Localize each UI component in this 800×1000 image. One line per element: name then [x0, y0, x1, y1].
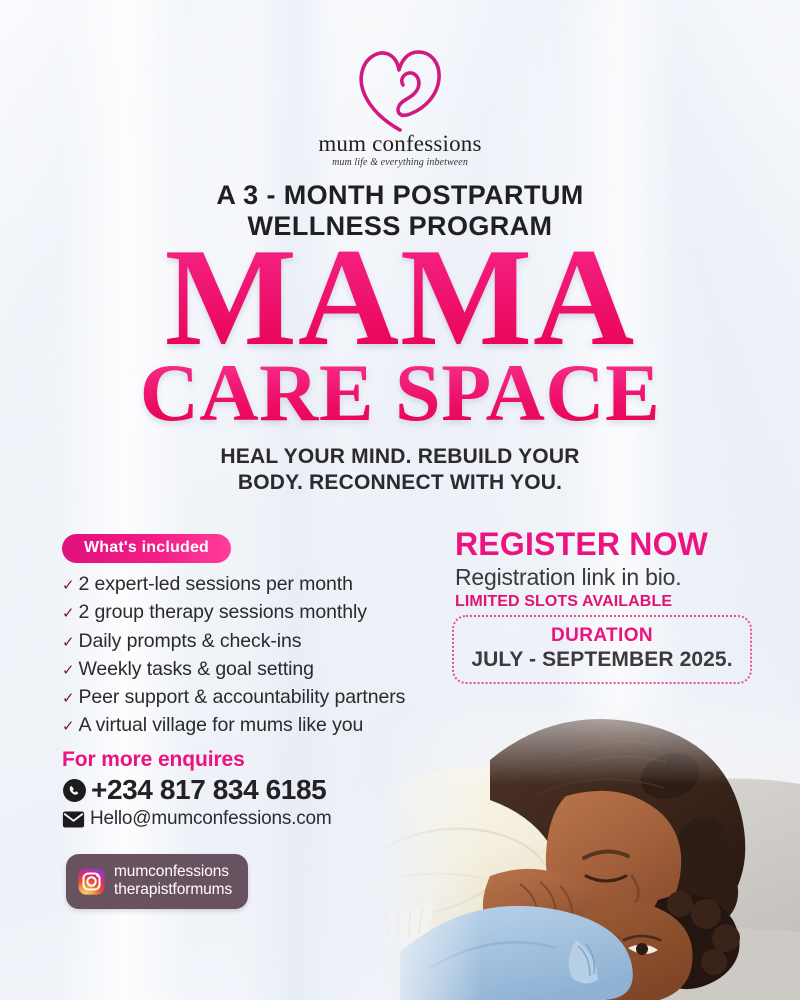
- contact-heading: For more enquires: [62, 748, 332, 772]
- page-title-care-space: CARE SPACE: [0, 352, 800, 434]
- mother-kissing-baby-photo: [370, 700, 800, 1000]
- list-item-label: Weekly tasks & goal setting: [78, 655, 313, 683]
- flyer-poster: mum confessions mum life & everything in…: [0, 0, 800, 1000]
- program-subtitle: HEAL YOUR MIND. REBUILD YOUR BODY. RECON…: [0, 444, 800, 495]
- email-row[interactable]: Hello@mumconfessions.com: [62, 808, 332, 830]
- register-section: REGISTER NOW Registration link in bio. L…: [455, 528, 755, 611]
- phone-row[interactable]: +234 817 834 6185: [62, 774, 332, 806]
- duration-label: DURATION: [462, 625, 742, 647]
- list-item-label: 2 expert-led sessions per month: [78, 570, 352, 598]
- logo-tagline: mum life & everything inbetween: [0, 157, 800, 168]
- list-item: ✓ Weekly tasks & goal setting: [62, 655, 405, 683]
- instagram-badge[interactable]: mumconfessions therapistformums: [66, 854, 248, 909]
- duration-value: JULY - SEPTEMBER 2025.: [462, 648, 742, 672]
- envelope-icon: [62, 810, 85, 829]
- registration-link-text: Registration link in bio.: [455, 563, 755, 591]
- check-icon: ✓: [62, 688, 74, 710]
- whats-included-section: What's included ✓ 2 expert-led sessions …: [62, 534, 405, 740]
- list-item-label: A virtual village for mums like you: [78, 711, 363, 739]
- list-item: ✓ Peer support & accountability partners: [62, 683, 405, 711]
- contact-section: For more enquires +234 817 834 6185 Hell…: [62, 748, 332, 830]
- list-item-label: 2 group therapy sessions monthly: [78, 598, 366, 626]
- subtitle-line-2: BODY. RECONNECT WITH YOU.: [0, 470, 800, 496]
- list-item: ✓ 2 group therapy sessions monthly: [62, 598, 405, 626]
- instagram-handles: mumconfessions therapistformums: [114, 863, 232, 900]
- check-icon: ✓: [62, 660, 74, 682]
- instagram-handle-primary: mumconfessions: [114, 863, 232, 881]
- check-icon: ✓: [62, 632, 74, 654]
- check-icon: ✓: [62, 603, 74, 625]
- instagram-icon: [78, 868, 105, 895]
- list-item-label: Peer support & accountability partners: [78, 683, 405, 711]
- brand-logo: mum confessions mum life & everything in…: [0, 42, 800, 168]
- phone-number: +234 817 834 6185: [91, 774, 326, 806]
- list-item-label: Daily prompts & check-ins: [78, 627, 301, 655]
- whats-included-badge: What's included: [62, 534, 231, 563]
- logo-wordmark: mum confessions: [0, 132, 800, 156]
- list-item: ✓ A virtual village for mums like you: [62, 711, 405, 739]
- check-icon: ✓: [62, 575, 74, 597]
- kicker-line-1: A 3 - MONTH POSTPARTUM: [0, 180, 800, 211]
- list-item: ✓ 2 expert-led sessions per month: [62, 570, 405, 598]
- heart-mother-baby-line-icon: [352, 42, 448, 134]
- list-item: ✓ Daily prompts & check-ins: [62, 627, 405, 655]
- subtitle-line-1: HEAL YOUR MIND. REBUILD YOUR: [0, 444, 800, 470]
- register-now-heading: REGISTER NOW: [455, 528, 755, 562]
- email-address: Hello@mumconfessions.com: [90, 808, 332, 830]
- limited-slots-text: LIMITED SLOTS AVAILABLE: [455, 593, 755, 611]
- check-icon: ✓: [62, 716, 74, 738]
- duration-box: DURATION JULY - SEPTEMBER 2025.: [452, 615, 752, 684]
- whats-included-list: ✓ 2 expert-led sessions per month ✓ 2 gr…: [62, 570, 405, 740]
- whatsapp-icon: [62, 778, 87, 803]
- instagram-handle-secondary: therapistformums: [114, 881, 232, 899]
